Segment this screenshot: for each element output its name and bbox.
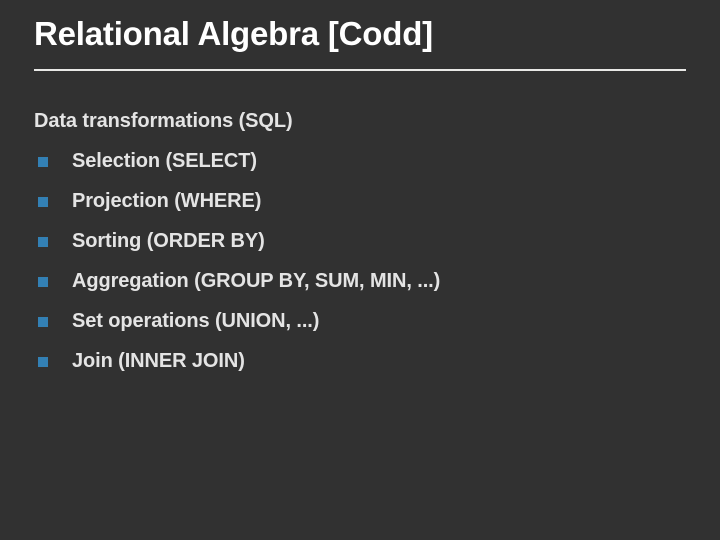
list-item-label: Aggregation (GROUP BY, SUM, MIN, ...) — [72, 268, 440, 294]
body-heading: Data transformations (SQL) — [34, 108, 694, 148]
square-bullet-icon — [38, 317, 48, 327]
square-bullet-icon — [38, 157, 48, 167]
square-bullet-icon — [38, 237, 48, 247]
list-item-label: Join (INNER JOIN) — [72, 348, 245, 374]
list-item: Join (INNER JOIN) — [34, 348, 694, 388]
list-item-label: Set operations (UNION, ...) — [72, 308, 319, 334]
list-item: Sorting (ORDER BY) — [34, 228, 694, 268]
square-bullet-icon — [38, 197, 48, 207]
list-item: Selection (SELECT) — [34, 148, 694, 188]
list-item-label: Projection (WHERE) — [72, 188, 261, 214]
list-item-label: Sorting (ORDER BY) — [72, 228, 265, 254]
slide-body: Data transformations (SQL) Selection (SE… — [34, 108, 694, 388]
list-item: Projection (WHERE) — [34, 188, 694, 228]
list-item-label: Selection (SELECT) — [72, 148, 257, 174]
title-divider — [34, 69, 686, 71]
square-bullet-icon — [38, 277, 48, 287]
list-item: Aggregation (GROUP BY, SUM, MIN, ...) — [34, 268, 694, 308]
page-title: Relational Algebra [Codd] — [34, 14, 694, 54]
presentation-slide: Relational Algebra [Codd] Data transform… — [0, 0, 720, 540]
square-bullet-icon — [38, 357, 48, 367]
list-item: Set operations (UNION, ...) — [34, 308, 694, 348]
